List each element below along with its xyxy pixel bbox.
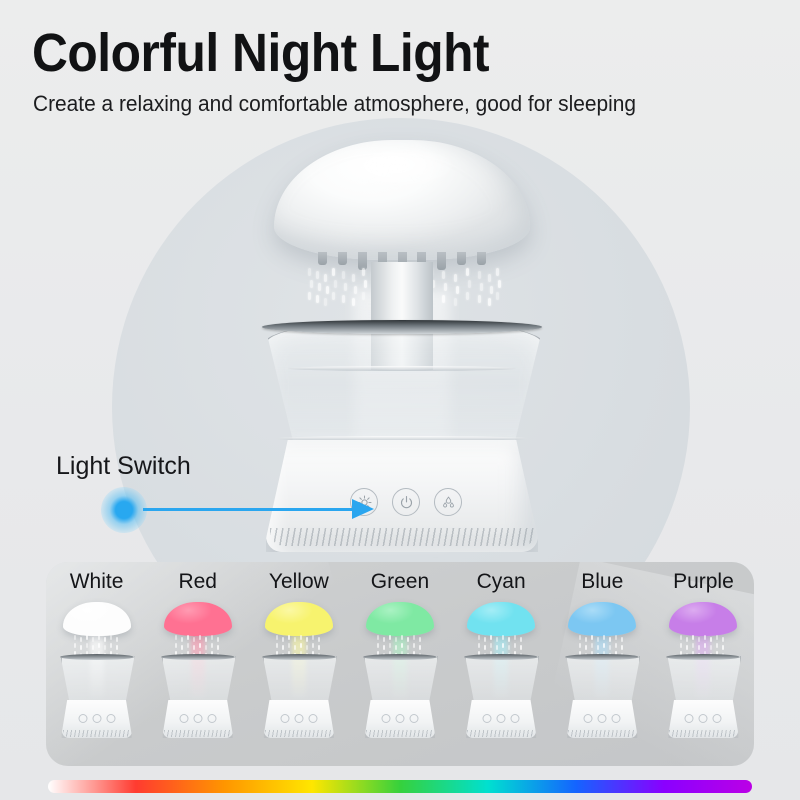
- rain-drop: [316, 295, 319, 303]
- rain-drop: [478, 271, 481, 279]
- color-swatch-yellow[interactable]: Yellow: [248, 562, 349, 766]
- mini-base-vents: [164, 730, 232, 737]
- color-swatch-white[interactable]: White: [46, 562, 147, 766]
- color-swatch-purple[interactable]: Purple: [653, 562, 754, 766]
- rain-drop: [308, 268, 311, 276]
- rain-drop: [352, 298, 355, 306]
- color-swatch-label: Green: [349, 570, 450, 594]
- mini-mushroom-cap: [164, 602, 232, 636]
- rain-drop: [490, 286, 493, 294]
- mini-product-illustration: [155, 602, 241, 752]
- annotation-arrow-icon: [352, 499, 374, 519]
- mini-product-illustration: [54, 602, 140, 752]
- light-switch-marker-dot: [101, 487, 147, 533]
- rain-drop: [342, 295, 345, 303]
- mini-water-tank: [566, 656, 640, 702]
- rain-drop: [488, 274, 491, 282]
- mini-base-vents: [265, 730, 333, 737]
- color-swatch-list: WhiteRedYellowGreenCyanBluePurple: [46, 562, 754, 766]
- mini-control-dots: [584, 714, 621, 723]
- mini-control-dots: [685, 714, 722, 723]
- rain-drop: [498, 280, 501, 288]
- rain-drop: [466, 292, 469, 300]
- color-swatch-label: Blue: [552, 570, 653, 594]
- mini-mushroom-cap: [265, 602, 333, 636]
- color-swatch-label: Cyan: [451, 570, 552, 594]
- mini-product-illustration: [357, 602, 443, 752]
- mini-base-vents: [467, 730, 535, 737]
- mini-water-tank: [667, 656, 741, 702]
- mini-tank-rim: [161, 654, 235, 660]
- rain-drop: [308, 292, 311, 300]
- mini-mushroom-cap: [467, 602, 535, 636]
- rain-drop: [444, 283, 447, 291]
- mini-mushroom-cap: [669, 602, 737, 636]
- annotation-line: [143, 508, 361, 511]
- color-swatch-label: Yellow: [248, 570, 349, 594]
- rain-drop: [362, 292, 365, 300]
- rain-drop: [466, 268, 469, 276]
- mini-product-illustration: [256, 602, 342, 752]
- product-infographic: Colorful Night Light Create a relaxing a…: [0, 0, 800, 800]
- rain-drop: [324, 274, 327, 282]
- mini-water-tank: [263, 656, 337, 702]
- color-swatch-panel: WhiteRedYellowGreenCyanBluePurple: [46, 562, 754, 766]
- color-swatch-red[interactable]: Red: [147, 562, 248, 766]
- color-swatch-cyan[interactable]: Cyan: [451, 562, 552, 766]
- mini-base-vents: [568, 730, 636, 737]
- cap-highlight: [352, 150, 460, 192]
- rain-drop: [364, 280, 367, 288]
- mini-tank-rim: [565, 654, 639, 660]
- mini-product-illustration: [660, 602, 746, 752]
- light-switch-label: Light Switch: [56, 452, 191, 481]
- mini-control-dots: [280, 714, 317, 723]
- rain-drop: [326, 286, 329, 294]
- power-icon: [399, 495, 414, 510]
- mini-base-vents: [366, 730, 434, 737]
- rain-drop: [324, 298, 327, 306]
- rain-drop: [352, 274, 355, 282]
- color-swatch-label: Red: [147, 570, 248, 594]
- rain-drop: [480, 283, 483, 291]
- mini-mushroom-cap: [568, 602, 636, 636]
- mini-tank-rim: [666, 654, 740, 660]
- base-vents: [270, 528, 536, 546]
- rain-drop: [354, 286, 357, 294]
- rain-drop: [310, 280, 313, 288]
- mushroom-cap: [274, 140, 530, 260]
- rain-drop: [454, 298, 457, 306]
- rain-drop: [442, 271, 445, 279]
- mini-water-tank: [465, 656, 539, 702]
- color-swatch-blue[interactable]: Blue: [552, 562, 653, 766]
- rain-drop: [468, 280, 471, 288]
- color-swatch-label: Purple: [653, 570, 754, 594]
- page-subtitle: Create a relaxing and comfortable atmosp…: [33, 91, 636, 117]
- rain-drop: [318, 283, 321, 291]
- mini-control-dots: [381, 714, 418, 723]
- rain-drop: [332, 292, 335, 300]
- power-button[interactable]: [392, 488, 420, 516]
- mini-base-vents: [63, 730, 131, 737]
- mini-tank-rim: [262, 654, 336, 660]
- rain-drop: [496, 268, 499, 276]
- rain-drop: [344, 283, 347, 291]
- rain-drop: [334, 280, 337, 288]
- tank-rim: [262, 320, 542, 334]
- rain-drop: [454, 274, 457, 282]
- rain-drop: [342, 271, 345, 279]
- mini-tank-rim: [60, 654, 134, 660]
- mini-mushroom-cap: [366, 602, 434, 636]
- mini-tank-rim: [363, 654, 437, 660]
- color-spectrum-bar: [48, 780, 752, 793]
- mini-control-dots: [483, 714, 520, 723]
- mini-product-illustration: [458, 602, 544, 752]
- mini-control-dots: [179, 714, 216, 723]
- tank-waterline-upper: [288, 366, 516, 371]
- rain-drop: [362, 268, 365, 276]
- mini-mushroom-cap: [63, 602, 131, 636]
- mini-water-tank: [61, 656, 135, 702]
- mist-button[interactable]: [434, 488, 462, 516]
- mini-base-vents: [669, 730, 737, 737]
- rain-drop: [496, 292, 499, 300]
- mini-product-illustration: [559, 602, 645, 752]
- product-illustration: [232, 140, 572, 560]
- mist-icon: [441, 495, 456, 510]
- rain-drop: [332, 268, 335, 276]
- rain-drop: [456, 286, 459, 294]
- rain-drop: [478, 295, 481, 303]
- page-title: Colorful Night Light: [32, 22, 489, 84]
- mini-tank-rim: [464, 654, 538, 660]
- rain-drop: [442, 295, 445, 303]
- color-swatch-label: White: [46, 570, 147, 594]
- mini-water-tank: [364, 656, 438, 702]
- mini-control-dots: [78, 714, 115, 723]
- rain-drop: [316, 271, 319, 279]
- color-swatch-green[interactable]: Green: [349, 562, 450, 766]
- rain-drop: [488, 298, 491, 306]
- mini-water-tank: [162, 656, 236, 702]
